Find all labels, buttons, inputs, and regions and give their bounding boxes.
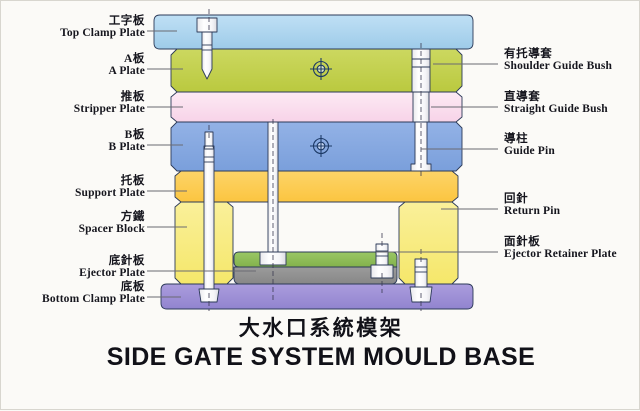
label-support-plate: 托板 Support Plate — [75, 176, 145, 200]
title-block: 大水口系統模架 SIDE GATE SYSTEM MOULD BASE — [1, 316, 640, 373]
return-pin-shaft — [376, 244, 388, 265]
label-en: A Plate — [109, 66, 146, 78]
label-a-plate: A板 A Plate — [109, 54, 146, 78]
label-en: Support Plate — [75, 188, 145, 200]
label-en: Bottom Clamp Plate — [42, 294, 145, 306]
label-b-plate: B板 B Plate — [109, 130, 146, 154]
label-en: Shoulder Guide Bush — [504, 61, 612, 73]
label-return-pin: 回針 Return Pin — [504, 194, 560, 218]
label-stripper-plate: 推板 Stripper Plate — [74, 92, 145, 116]
label-en: Spacer Block — [79, 224, 145, 236]
diagram-page: 工字板 Top Clamp Plate A板 A Plate 推板 Stripp… — [0, 0, 640, 410]
ejector-guide-pillar — [204, 146, 214, 291]
label-ejector-plate: 底針板 Ejector Plate — [79, 256, 145, 280]
label-en: Top Clamp Plate — [60, 28, 145, 40]
label-straight-guide-bush: 直導套 Straight Guide Bush — [504, 92, 608, 116]
label-en: B Plate — [109, 142, 146, 154]
title-chinese: 大水口系統模架 — [1, 316, 640, 340]
label-en: Stripper Plate — [74, 104, 145, 116]
label-shoulder-guide-bush: 有托導套 Shoulder Guide Bush — [504, 49, 612, 73]
label-bottom-clamp-plate: 底板 Bottom Clamp Plate — [42, 282, 145, 306]
spacer-block-right — [399, 202, 458, 284]
title-english: SIDE GATE SYSTEM MOULD BASE — [1, 342, 640, 373]
label-en: Return Pin — [504, 206, 560, 218]
clamp-bolt-head — [197, 18, 217, 32]
bottom-fixing-bolt-shaft — [415, 259, 427, 287]
label-spacer-block: 方鐵 Spacer Block — [79, 212, 145, 236]
label-top-clamp-plate: 工字板 Top Clamp Plate — [60, 16, 145, 40]
label-en: Guide Pin — [504, 146, 555, 158]
label-en: Ejector Plate — [79, 268, 145, 280]
clamp-bolt-shank — [202, 32, 212, 79]
label-en: Ejector Retainer Plate — [504, 249, 617, 261]
label-ejector-retainer-plate: 面針板 Ejector Retainer Plate — [504, 237, 617, 261]
label-en: Straight Guide Bush — [504, 104, 608, 116]
plate-support — [175, 171, 458, 202]
label-guide-pin: 導柱 Guide Pin — [504, 134, 555, 158]
